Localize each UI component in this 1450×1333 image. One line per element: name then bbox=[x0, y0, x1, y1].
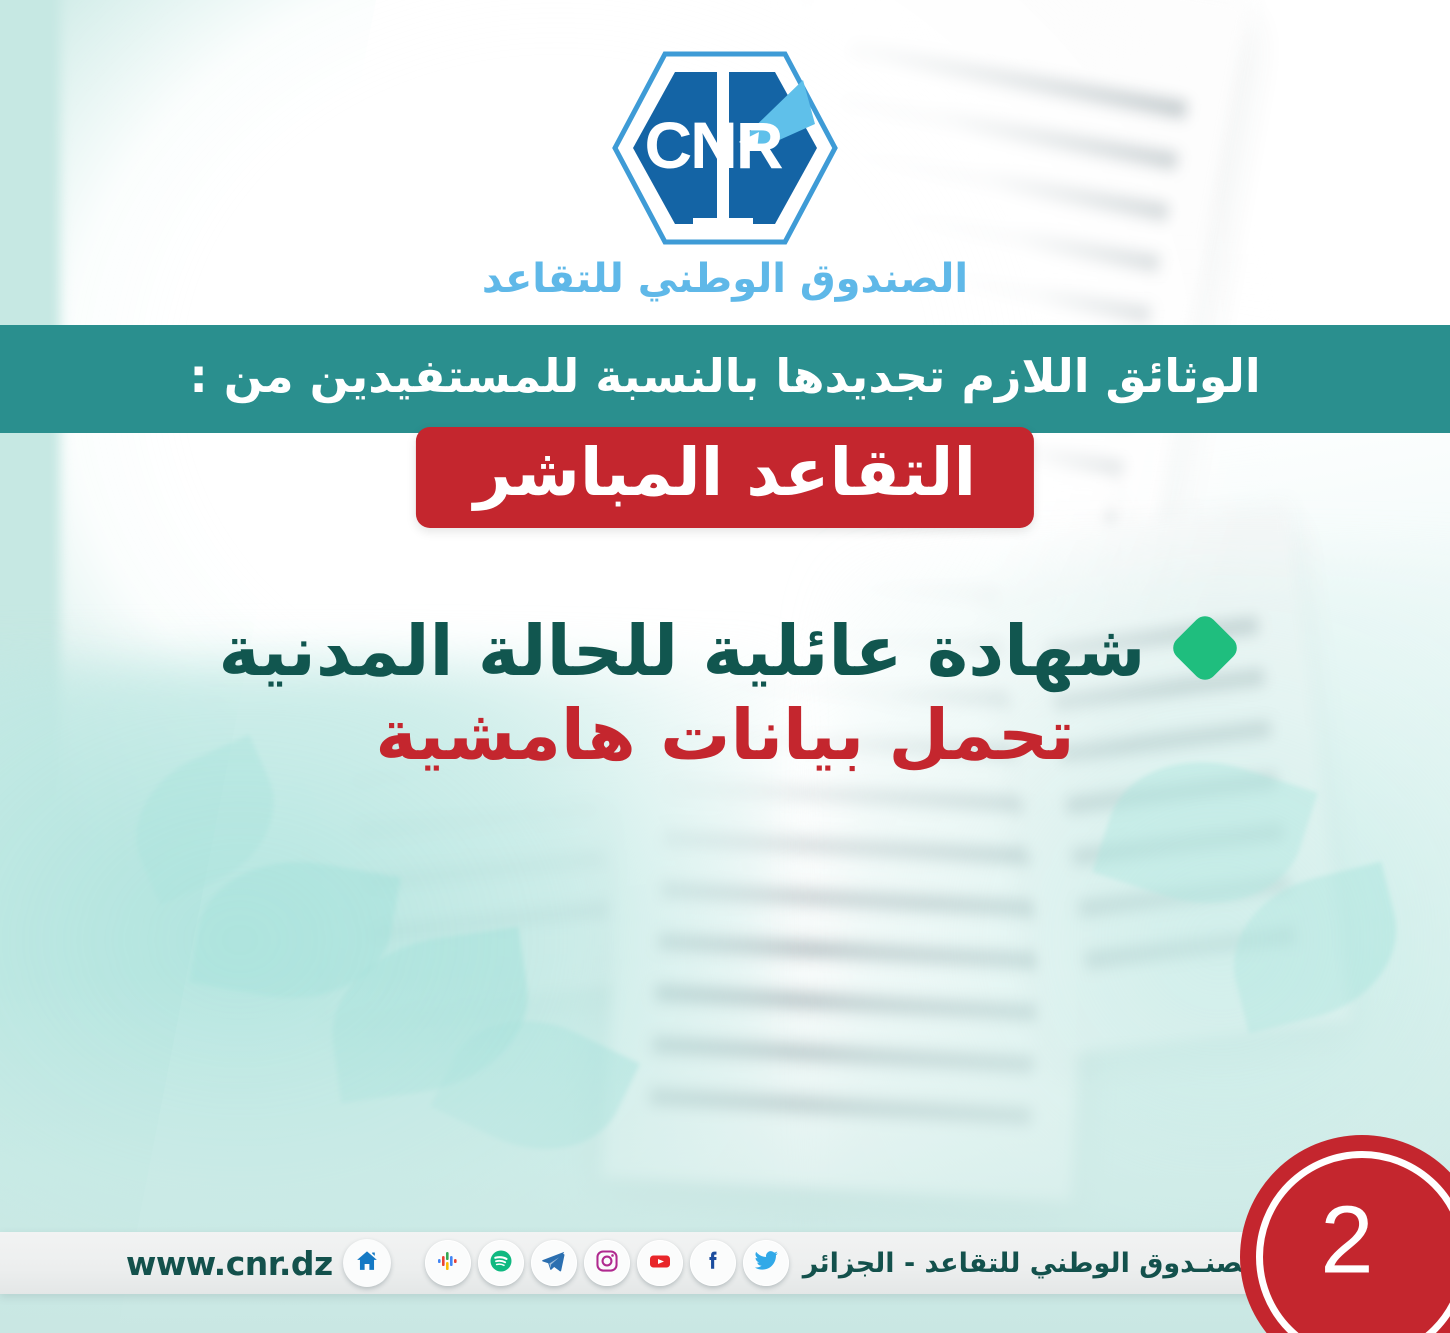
green-diamond-bullet-icon bbox=[1169, 611, 1243, 685]
instagram-icon bbox=[594, 1248, 620, 1278]
social-links bbox=[425, 1240, 789, 1286]
page-number: 2 bbox=[1240, 1193, 1450, 1317]
brand-logo: CNR الصندوق الوطني للتقاعد bbox=[0, 46, 1450, 299]
cnr-logo-icon: CNR bbox=[607, 46, 843, 255]
poster-canvas: CNR الصندوق الوطني للتقاعد الوثائق اللاز… bbox=[0, 0, 1450, 1333]
footer-bar: الصنـدوق الوطني للتقاعد - الجزائر bbox=[0, 1232, 1450, 1294]
headline-banner-text: الوثائق اللازم تجديدها بالنسبة للمستفيدي… bbox=[189, 353, 1260, 405]
website-group[interactable]: www.cnr.dz bbox=[126, 1239, 391, 1287]
spotify-icon bbox=[487, 1247, 515, 1279]
requirement-line-primary: شهادة عائلية للحالة المدنية bbox=[219, 612, 1146, 690]
facebook-icon bbox=[700, 1248, 726, 1278]
youtube-icon bbox=[646, 1247, 674, 1279]
social-link-spotify[interactable] bbox=[478, 1240, 524, 1286]
category-pill: التقاعد المباشر bbox=[416, 427, 1034, 528]
footer-inner: الصنـدوق الوطني للتقاعد - الجزائر bbox=[0, 1239, 1450, 1287]
logo-caption: الصندوق الوطني للتقاعد bbox=[0, 259, 1450, 299]
social-link-facebook[interactable] bbox=[690, 1240, 736, 1286]
home-button[interactable] bbox=[343, 1239, 391, 1287]
requirement-line-secondary: تحمل بيانات هامشية bbox=[0, 696, 1450, 774]
website-url[interactable]: www.cnr.dz bbox=[126, 1244, 333, 1283]
google-podcasts-icon bbox=[435, 1248, 461, 1278]
social-link-instagram[interactable] bbox=[584, 1240, 630, 1286]
footer-brand-text: الصنـدوق الوطني للتقاعد - الجزائر bbox=[803, 1248, 1262, 1279]
social-link-twitter[interactable] bbox=[743, 1240, 789, 1286]
headline-banner: الوثائق اللازم تجديدها بالنسبة للمستفيدي… bbox=[0, 325, 1450, 433]
category-pill-text: التقاعد المباشر bbox=[474, 437, 976, 508]
social-link-youtube[interactable] bbox=[637, 1240, 683, 1286]
social-link-telegram[interactable] bbox=[531, 1240, 577, 1286]
social-link-google-podcasts[interactable] bbox=[425, 1240, 471, 1286]
main-content: شهادة عائلية للحالة المدنية تحمل بيانات … bbox=[0, 612, 1450, 775]
telegram-icon bbox=[540, 1248, 567, 1279]
svg-text:CNR: CNR bbox=[645, 108, 783, 182]
twitter-icon bbox=[753, 1248, 779, 1278]
requirement-item: شهادة عائلية للحالة المدنية bbox=[0, 612, 1450, 690]
home-icon bbox=[354, 1248, 380, 1278]
